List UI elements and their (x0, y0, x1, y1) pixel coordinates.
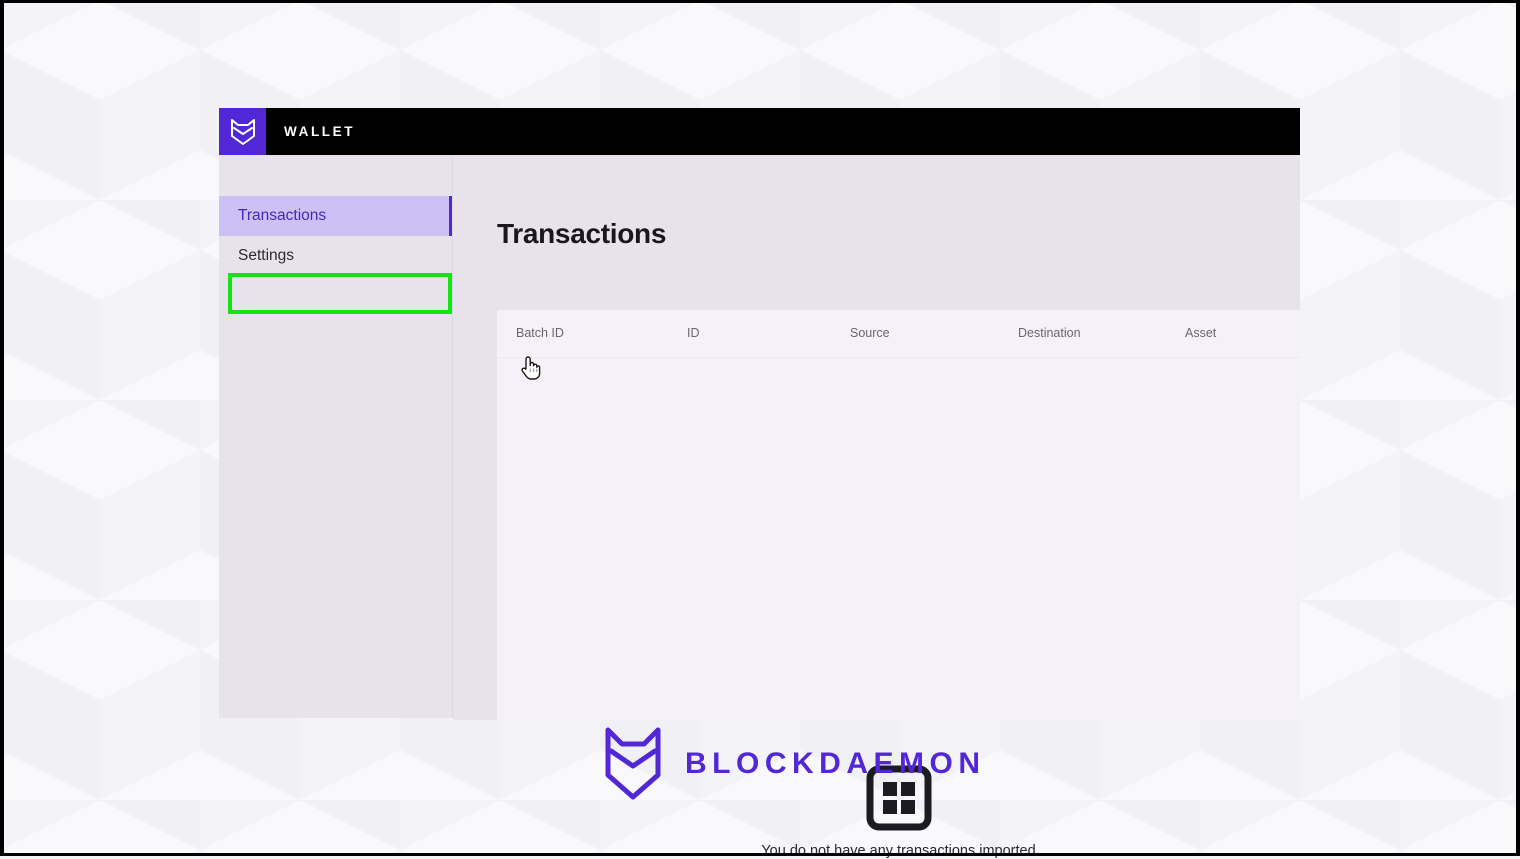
column-header-asset[interactable]: Asset (1185, 326, 1216, 340)
screen-edge-right (1516, 0, 1520, 856)
column-header-destination[interactable]: Destination (1018, 326, 1081, 340)
blockdaemon-shield-icon-glyph (230, 118, 256, 146)
screen-edge-top (0, 0, 1520, 3)
sidebar-item-label: Transactions (238, 207, 326, 225)
column-header-id[interactable]: ID (687, 326, 700, 340)
settings-highlight-annotation (228, 273, 452, 314)
screen-edge-left (0, 0, 4, 856)
transactions-table: Batch ID ID Source Destination Asset (497, 310, 1300, 720)
empty-state-message: You do not have any transactions importe… (761, 843, 1035, 859)
app-window: WALLET Transactions Settings Transaction… (219, 108, 1300, 720)
page-title: Transactions (497, 218, 666, 250)
column-header-source[interactable]: Source (850, 326, 890, 340)
sidebar: Transactions Settings (219, 155, 453, 718)
app-body: Transactions Settings Transactions Batch… (219, 155, 1300, 720)
app-title: WALLET (284, 124, 355, 139)
sidebar-item-transactions[interactable]: Transactions (219, 196, 452, 236)
table-header-divider (497, 357, 1300, 358)
sidebar-item-label: Settings (238, 247, 294, 265)
column-header-batch-id[interactable]: Batch ID (516, 326, 564, 340)
footer-wordmark: BLOCKDAEMON (685, 747, 986, 781)
sidebar-item-settings[interactable]: Settings (219, 236, 452, 276)
blockdaemon-shield-icon[interactable] (219, 108, 266, 155)
footer-brand: BLOCKDAEMON (605, 727, 986, 801)
table-header-row: Batch ID ID Source Destination Asset (497, 310, 1300, 356)
blockdaemon-shield-icon (605, 727, 661, 801)
app-header: WALLET (219, 108, 1300, 155)
main-content: Transactions Batch ID ID Source Destinat… (453, 155, 1300, 720)
